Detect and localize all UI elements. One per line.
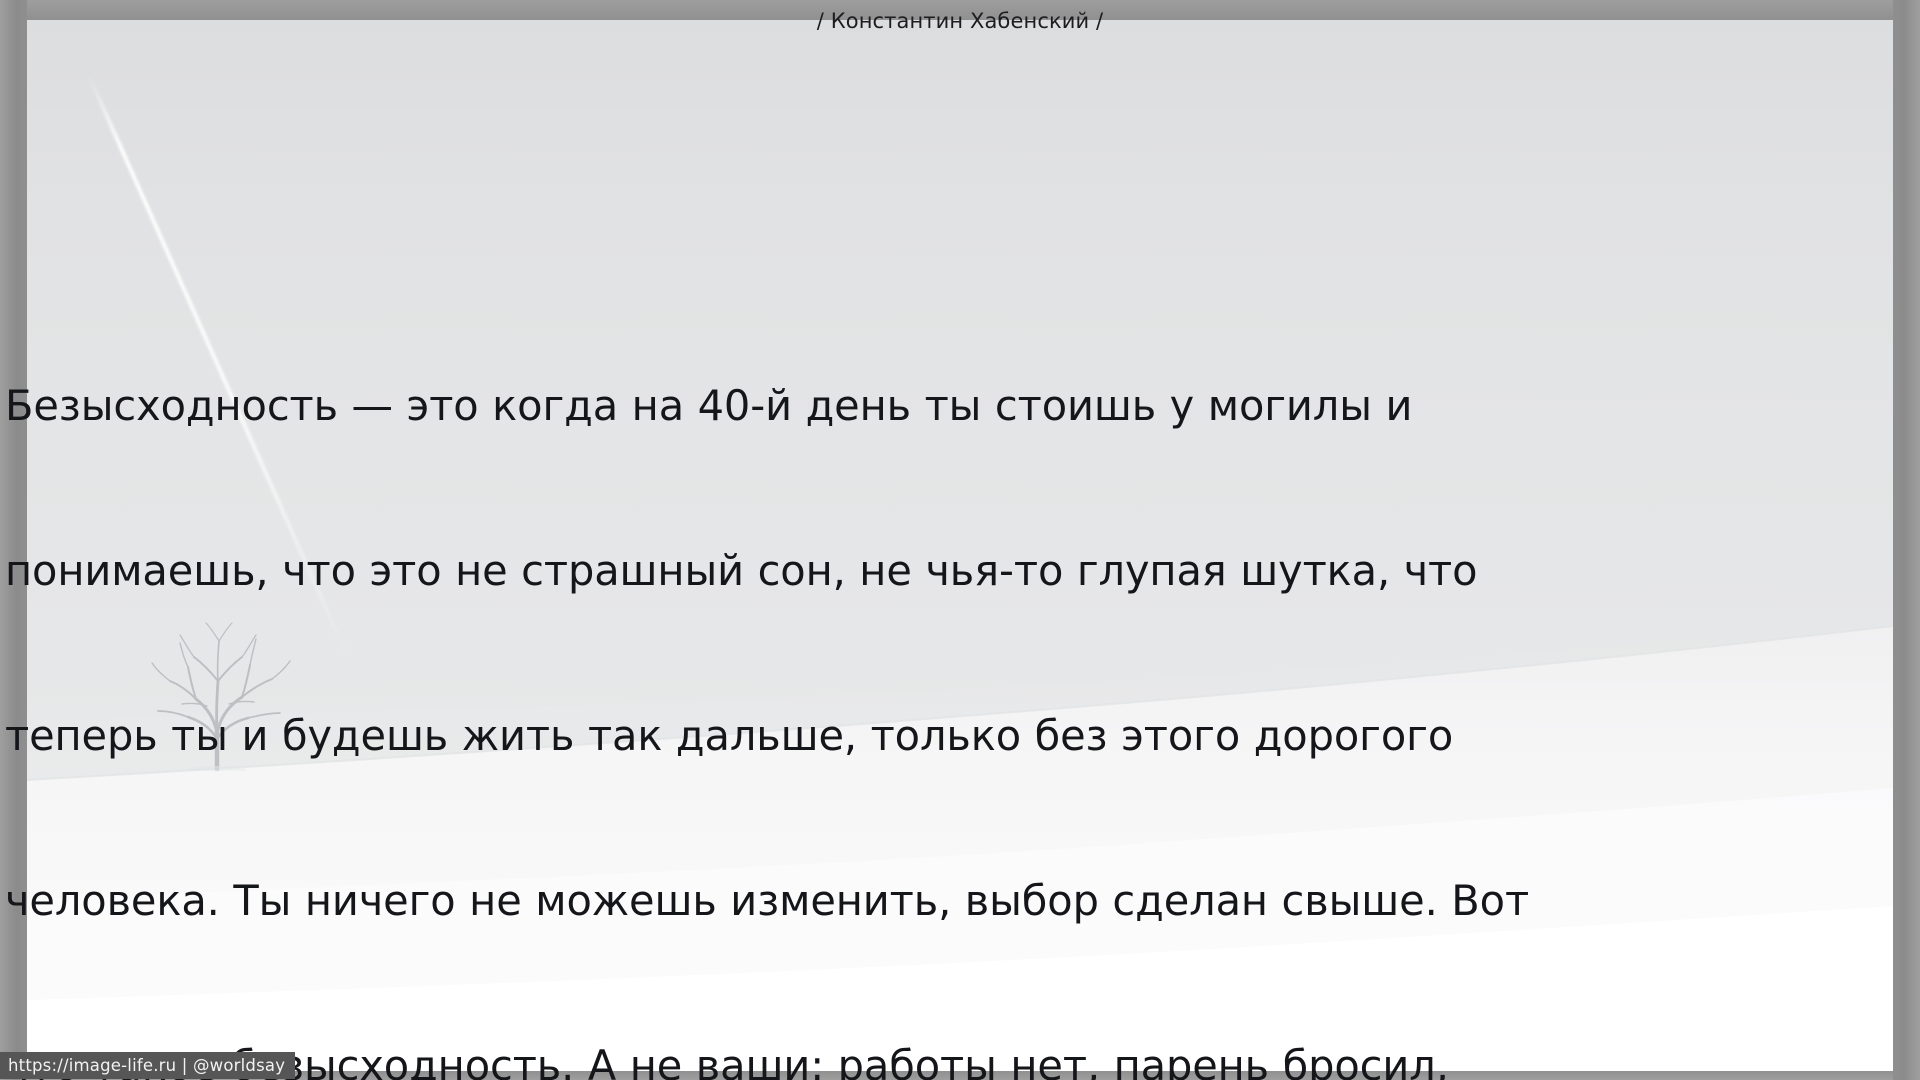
author-attribution: / Константин Хабенский / <box>0 9 1920 33</box>
quote-image-canvas: / Константин Хабенский / Безысходность —… <box>0 0 1920 1080</box>
quote-text: Безысходность — это когда на 40-й день т… <box>5 268 1805 1080</box>
quote-line: теперь ты и будешь жить так дальше, толь… <box>5 708 1805 763</box>
frame-border-right <box>1893 0 1920 1080</box>
watermark-bar: https://image-life.ru | @worldsay <box>0 1052 295 1079</box>
quote-line: человека. Ты ничего не можешь изменить, … <box>5 873 1805 928</box>
quote-line: понимаешь, что это не страшный сон, не ч… <box>5 543 1805 598</box>
quote-line: Безысходность — это когда на 40-й день т… <box>5 378 1805 433</box>
